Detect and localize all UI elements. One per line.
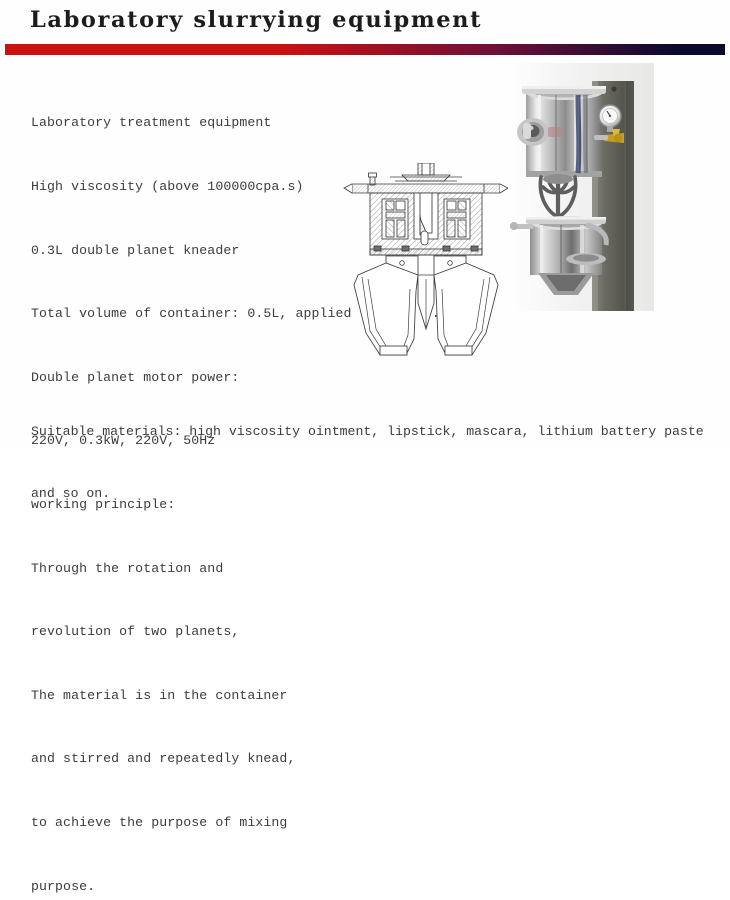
footer-text-block: Suitable materials: high viscosity ointm… [31, 381, 711, 545]
drawing-gearbox-housing [370, 193, 482, 255]
spec-line: 0.3L double planet kneader [31, 240, 361, 261]
planetary-mixer-machine-photo [508, 63, 654, 311]
spec-line: revolution of two planets, [31, 621, 361, 642]
blade-hub [543, 174, 573, 184]
spec-line: Through the rotation and [31, 558, 361, 579]
stainless-steel-vessel [517, 86, 606, 177]
double-planetary-blade-cross-section-drawing [340, 163, 512, 368]
drawing-top-shaft [390, 163, 462, 181]
spec-line: The material is in the container [31, 685, 361, 706]
drawing-blade-right [434, 263, 498, 355]
column-stud [611, 86, 616, 91]
spec-line: and stirred and repeatedly knead, [31, 748, 361, 769]
spec-line: Total volume of container: 0.5L, applied… [31, 303, 361, 324]
spec-line: to achieve the purpose of mixing [31, 812, 361, 833]
footer-line: Suitable materials: high viscosity ointm… [31, 422, 711, 443]
spec-line: High viscosity (above 100000cpa.s) [31, 176, 361, 197]
page-title: Laboratory slurrying equipment [30, 4, 670, 36]
gradient-divider [5, 44, 725, 55]
spec-line: Laboratory treatment equipment [31, 112, 361, 133]
footer-line: and so on. [31, 484, 711, 505]
drawing-blade-left [354, 263, 418, 355]
spec-line: purpose. [31, 876, 361, 897]
slide-page: Laboratory slurrying equipment Laborator… [0, 0, 730, 450]
